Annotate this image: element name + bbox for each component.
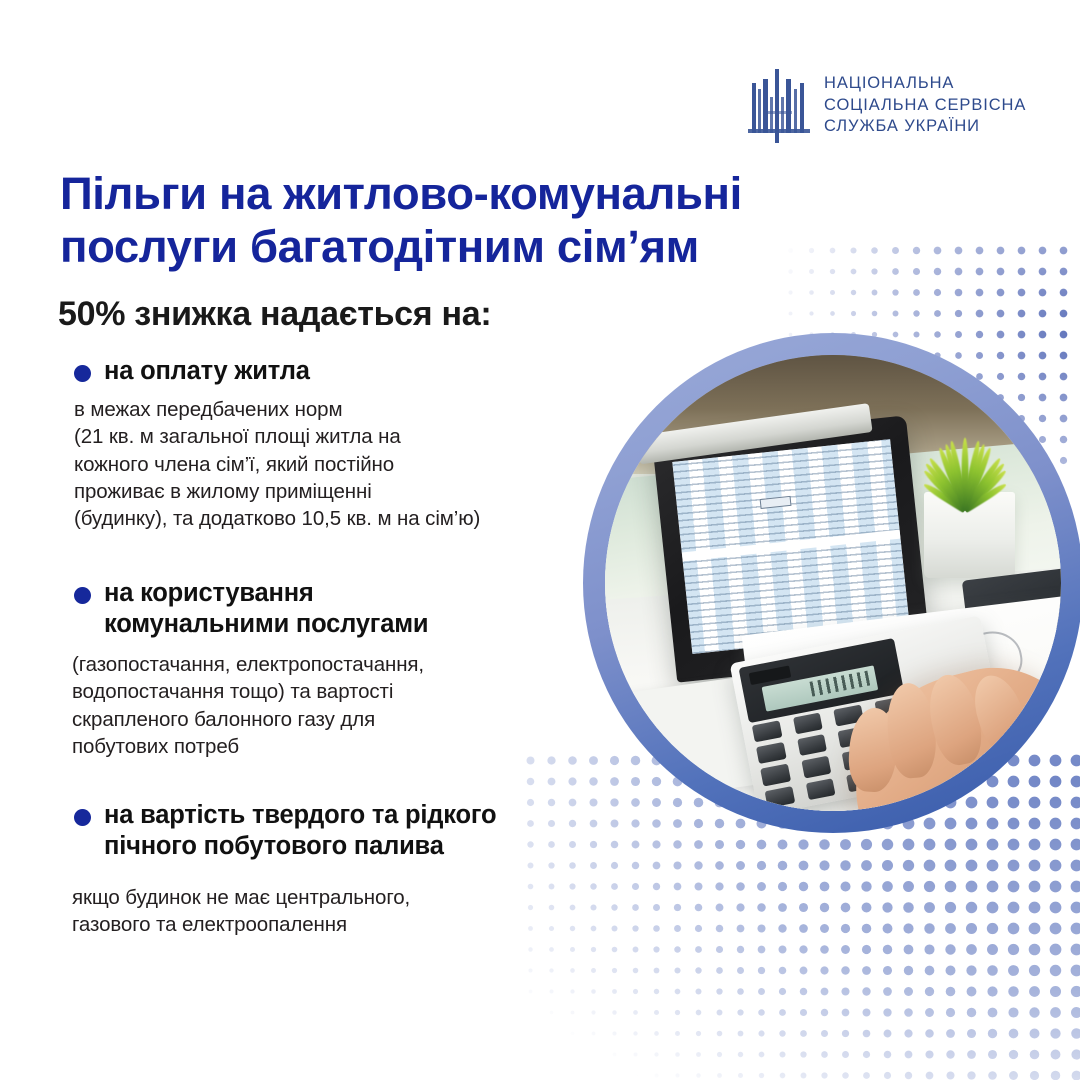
benefit-description-line-3: скрапленого балонного газу для bbox=[72, 706, 612, 733]
nssu-emblem-icon bbox=[748, 67, 810, 143]
benefit-heading: на вартість твердого та рідкого пічного … bbox=[72, 800, 672, 862]
benefit-heading-line-2: пічного побутового палива bbox=[104, 831, 672, 862]
title-line-2: послуги багатодітним сім’ям bbox=[60, 221, 890, 274]
circular-photo bbox=[583, 333, 1080, 833]
benefit-heading: на користування комунальними послугами bbox=[72, 578, 612, 640]
discount-subtitle: 50% знижка надається на: bbox=[58, 295, 491, 334]
benefit-description-line-2: газового та електроопалення bbox=[72, 911, 672, 938]
benefit-description: (газопостачання, електропостачання, водо… bbox=[72, 651, 612, 760]
benefit-item-solid-liquid-fuel: на вартість твердого та рідкого пічного … bbox=[72, 800, 672, 939]
logo-wordmark: НАЦІОНАЛЬНА СОЦІАЛЬНА СЕРВІСНА СЛУЖБА УК… bbox=[824, 74, 1026, 135]
benefit-description-line-4: проживає в жилому приміщенні bbox=[74, 478, 592, 505]
benefit-item-utility-services: на користування комунальними послугами (… bbox=[72, 578, 612, 760]
infographic-poster: НАЦІОНАЛЬНА СОЦІАЛЬНА СЕРВІСНА СЛУЖБА УК… bbox=[0, 0, 1080, 1080]
benefit-description-line-1: (газопостачання, електропостачання, bbox=[72, 651, 612, 678]
logo-line-3: СЛУЖБА УКРАЇНИ bbox=[824, 117, 1026, 135]
benefit-heading-line-2: комунальними послугами bbox=[104, 609, 612, 640]
calculator-key bbox=[801, 756, 831, 778]
benefit-heading-line-1: на вартість твердого та рідкого bbox=[104, 800, 672, 831]
benefit-item-housing-payment: на оплату житла в межах передбачених нор… bbox=[72, 356, 592, 532]
benefit-description-line-2: (21 кв. м загальної площі житла на bbox=[74, 423, 592, 450]
benefit-heading-line-1: на користування bbox=[104, 578, 612, 609]
desk-scene bbox=[605, 355, 1061, 811]
benefit-description-line-2: водопостачання тощо) та вартості bbox=[72, 678, 612, 705]
organisation-logo: НАЦІОНАЛЬНА СОЦІАЛЬНА СЕРВІСНА СЛУЖБА УК… bbox=[748, 60, 1008, 150]
benefit-description-line-1: в межах передбачених норм bbox=[74, 396, 592, 423]
title-line-1: Пільги на житлово-комунальні bbox=[60, 168, 890, 221]
logo-line-2: СОЦІАЛЬНА СЕРВІСНА bbox=[824, 96, 1026, 114]
benefit-description: в межах передбачених норм (21 кв. м зага… bbox=[74, 396, 592, 532]
calculator-key bbox=[760, 764, 790, 786]
logo-line-1: НАЦІОНАЛЬНА bbox=[824, 74, 1026, 92]
benefit-heading: на оплату житла bbox=[72, 356, 592, 387]
calculator-key bbox=[756, 742, 786, 764]
benefit-description-line-3: кожного члена сім’ї, який постійно bbox=[74, 451, 592, 478]
bullet-dot-icon bbox=[74, 587, 91, 604]
photo-image bbox=[605, 355, 1061, 811]
calculator-key bbox=[797, 734, 827, 756]
page-title: Пільги на житлово-комунальні послуги баг… bbox=[60, 168, 890, 274]
bullet-dot-icon bbox=[74, 365, 91, 382]
benefit-description: якщо будинок не має центрального, газово… bbox=[72, 884, 672, 939]
bullet-dot-icon bbox=[74, 809, 91, 826]
benefit-heading-line-1: на оплату житла bbox=[104, 356, 592, 387]
plant-leaves bbox=[906, 405, 1025, 510]
benefit-description-line-4: побутових потреб bbox=[72, 733, 612, 760]
benefit-description-line-1: якщо будинок не має центрального, bbox=[72, 884, 672, 911]
benefit-description-line-5: (будинку), та додатково 10,5 кв. м на сі… bbox=[74, 505, 592, 532]
